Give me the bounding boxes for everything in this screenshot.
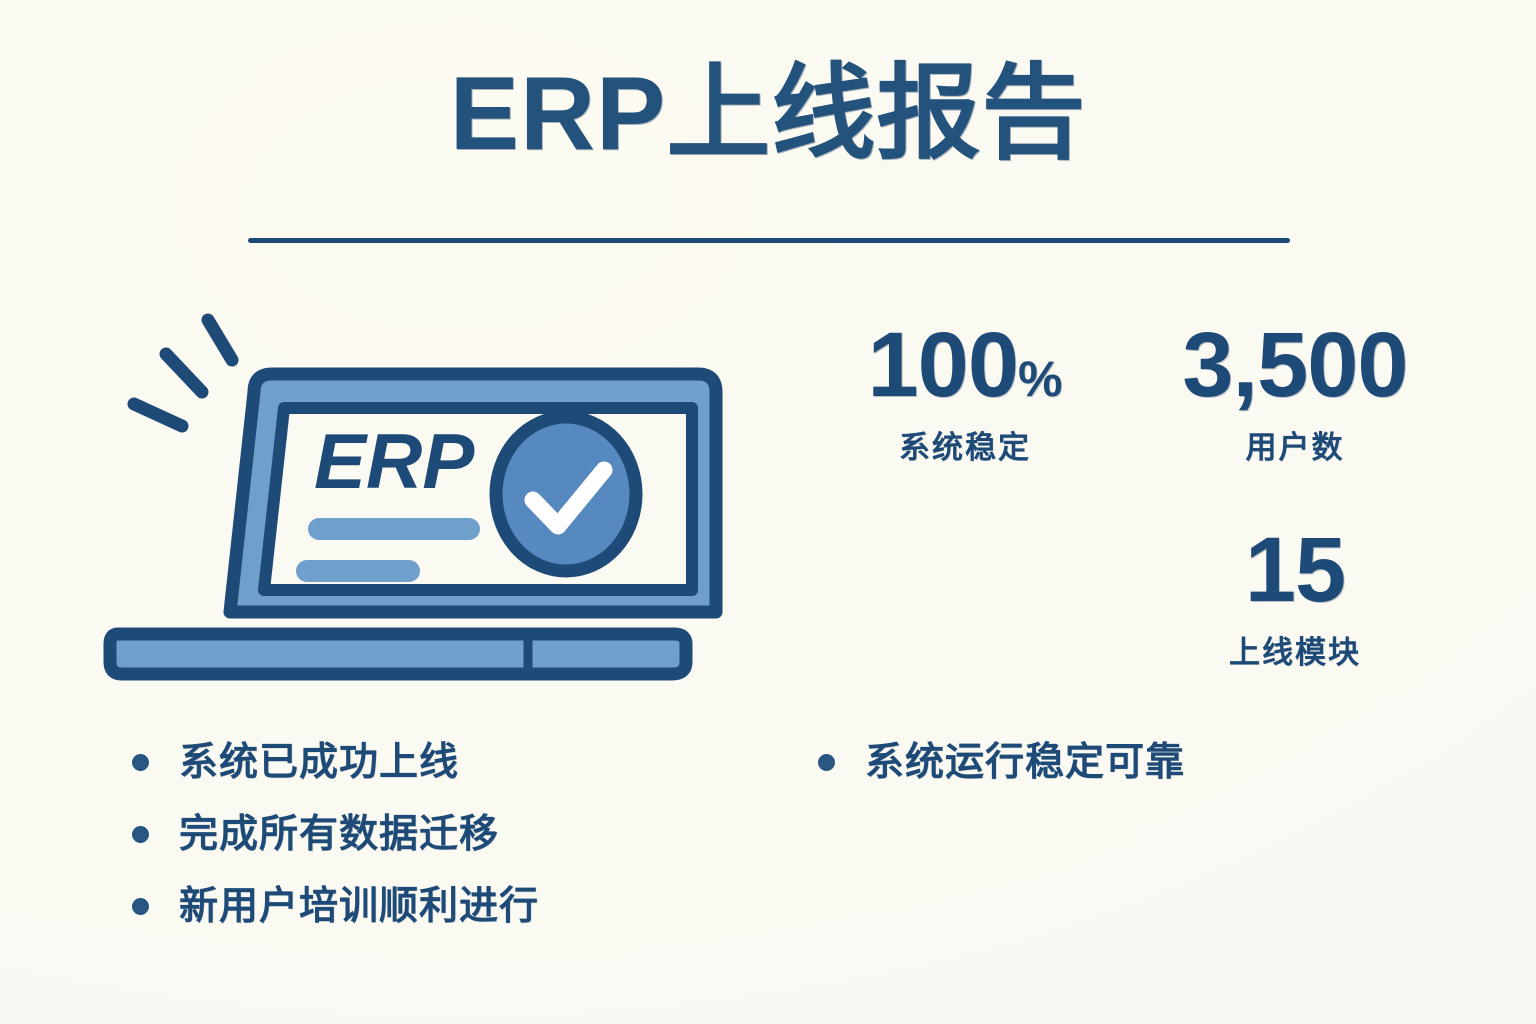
screen-erp-label: ERP [314, 417, 475, 505]
list-item: 系统运行稳定可靠 [818, 726, 1458, 798]
erp-launch-report-poster: ERP上线报告 ERP [0, 0, 1536, 1024]
bullet-dot-icon [132, 826, 149, 843]
stats-group: 100% 系统稳定 3,500 用户数 15 上线模块 [800, 320, 1490, 710]
bullet-list-right: 系统运行稳定可靠 [818, 726, 1458, 798]
stat-users-label: 用户数 [1130, 422, 1460, 467]
stat-users: 3,500 用户数 [1130, 320, 1460, 467]
screen-line-1 [308, 518, 480, 540]
bullet-dot-icon [818, 754, 835, 771]
stat-modules: 15 上线模块 [1130, 525, 1460, 672]
laptop-base [110, 634, 686, 674]
laptop-success-illustration: ERP [96, 282, 746, 702]
list-item: 新用户培训顺利进行 [132, 870, 772, 942]
title-block: ERP上线报告 [0, 56, 1536, 172]
title-divider [248, 238, 1290, 243]
bullet-list-left: 系统已成功上线 完成所有数据迁移 新用户培训顺利进行 [132, 726, 772, 942]
bullet-dot-icon [132, 898, 149, 915]
page-title: ERP上线报告 [0, 56, 1536, 172]
stat-modules-label: 上线模块 [1130, 627, 1460, 672]
bullet-text: 系统运行稳定可靠 [865, 743, 1185, 782]
stat-modules-value: 15 [1130, 525, 1460, 615]
list-item: 系统已成功上线 [132, 726, 772, 798]
bullet-dot-icon [132, 754, 149, 771]
bullet-text: 新用户培训顺利进行 [179, 887, 539, 926]
list-item: 完成所有数据迁移 [132, 798, 772, 870]
bullet-text: 系统已成功上线 [179, 743, 459, 782]
screen-line-2 [296, 560, 420, 582]
stat-stability-value: 100% [820, 320, 1110, 410]
stat-users-value: 3,500 [1130, 320, 1460, 410]
bullet-text: 完成所有数据迁移 [179, 815, 499, 854]
sparkle-icon [134, 320, 232, 426]
check-circle-icon [496, 417, 636, 571]
stat-stability-label: 系统稳定 [820, 422, 1110, 467]
stat-stability: 100% 系统稳定 [820, 320, 1110, 467]
